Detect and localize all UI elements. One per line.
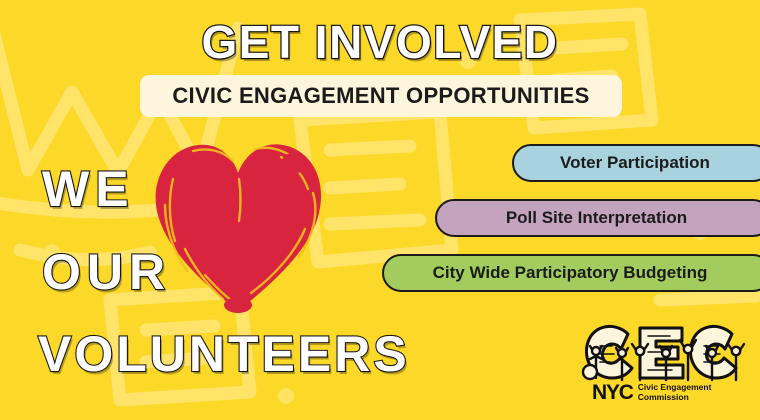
program-pill-participatory-budgeting[interactable]: City Wide Participatory Budgeting [382, 254, 760, 292]
nyc-wordmark: NYC [592, 382, 633, 403]
cec-logo-mark [578, 312, 750, 388]
page-title: GET INVOLVED [0, 18, 760, 66]
agency-name-line1: Civic Engagement [638, 382, 712, 392]
agency-name-line2: Commission [638, 392, 689, 402]
agency-name: Civic Engagement Commission [638, 383, 712, 403]
slogan-line-we: WE [42, 160, 135, 218]
program-pill-label: Voter Participation [560, 153, 710, 173]
program-pill-poll-site-interpretation[interactable]: Poll Site Interpretation [435, 199, 760, 237]
cec-logo-footer: NYC Civic Engagement Commission [592, 382, 711, 403]
program-pill-label: City Wide Participatory Budgeting [433, 263, 708, 283]
heart-icon [143, 133, 333, 323]
slogan-line-volunteers: VOLUNTEERS [38, 325, 410, 383]
get-involved-poster: GET INVOLVED CIVIC ENGAGEMENT OPPORTUNIT… [0, 0, 760, 420]
program-pill-voter-participation[interactable]: Voter Participation [512, 144, 760, 182]
program-pill-label: Poll Site Interpretation [506, 208, 687, 228]
cec-logo: NYC Civic Engagement Commission [578, 312, 750, 412]
subtitle-banner: CIVIC ENGAGEMENT OPPORTUNITIES [140, 75, 622, 117]
subtitle-text: CIVIC ENGAGEMENT OPPORTUNITIES [172, 83, 589, 109]
